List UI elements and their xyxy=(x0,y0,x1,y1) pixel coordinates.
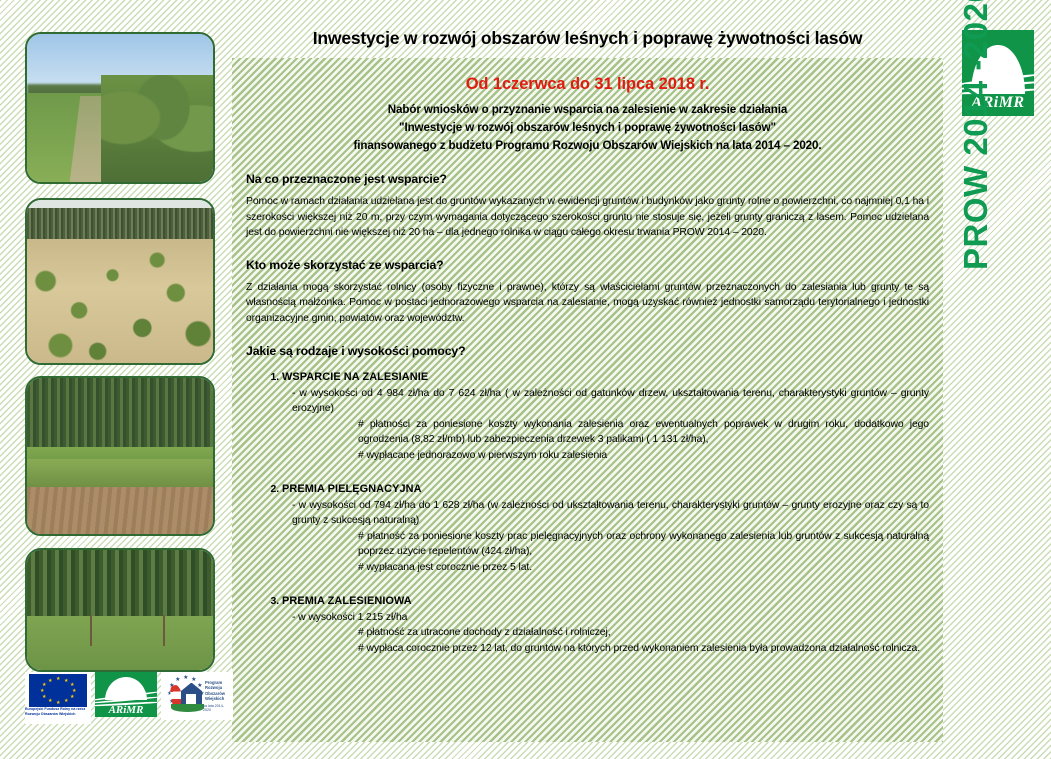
aid-item-title: PREMIA ZALESIENIOWA xyxy=(282,595,929,607)
aid-item-note: # płatność za utracone dochody z działal… xyxy=(282,625,929,641)
list-item-aid-type: PREMIA PIELĘGNACYJNA - w wysokości od 79… xyxy=(282,483,929,576)
aid-item-note: # płatność za poniesione koszty prac pie… xyxy=(282,529,929,560)
photo-fenced-clearing-in-front-of-forest xyxy=(25,548,215,672)
section-paragraph-eligibility: Z działania mogą skorzystać rolnicy (oso… xyxy=(246,280,929,327)
pine-forest-backdrop xyxy=(27,208,213,241)
subtitle-line-2: "Inwestycje w rozwój obszarów leśnych i … xyxy=(246,119,929,137)
prow-logo-years: na lata 2014-2020 xyxy=(203,704,231,712)
grass-clearing xyxy=(27,616,213,670)
footer-logo-strip: ★ ★ ★ ★ ★ ★ ★ ★ ★ ★ ★ ★ Europejski Fundu… xyxy=(25,672,233,732)
poster-page: Inwestycje w rozwój obszarów leśnych i p… xyxy=(0,0,1051,759)
eu-flag-logo: ★ ★ ★ ★ ★ ★ ★ ★ ★ ★ ★ ★ Europejski Fundu… xyxy=(25,672,91,724)
photo-3-content xyxy=(27,378,213,534)
campaign-dates-heading: Od 1czerwca do 31 lipca 2018 r. xyxy=(246,75,929,94)
aid-item-note: # wypłacana jest corocznie przez 5 lat. xyxy=(282,560,929,576)
aid-item-note: # płatności za poniesione koszty wykonan… xyxy=(282,417,929,448)
young-plantation-hedge xyxy=(27,459,213,490)
eu-logo-caption: Europejski Fundusz Rolny na rzecz Rozwoj… xyxy=(25,707,91,716)
section-heading-purpose: Na co przeznaczone jest wsparcie? xyxy=(246,172,929,186)
subtitle-line-1: Nabór wniosków o przyznanie wsparcia na … xyxy=(246,101,929,119)
fence-post xyxy=(163,615,165,646)
fence-post xyxy=(90,615,92,646)
photo-1-content xyxy=(27,34,213,182)
aid-item-rate: - w wysokości od 794 zł/ha do 1 628 zł/h… xyxy=(282,498,929,529)
subtitle-line-3: finansowanego z budżetu Programu Rozwoju… xyxy=(246,137,929,155)
section-heading-aid-types: Jakie są rodzaje i wysokości pomocy? xyxy=(246,344,929,358)
aid-types-list: WSPARCIE NA ZALESIANIE - w wysokości od … xyxy=(246,371,929,657)
prow-program-logo: ★ ★ ★ ★ ★ ★ ★ ★ ★ ★ ★ ★ Program Rozwoju … xyxy=(161,672,233,720)
prow-vertical-label: PROW 2014 -2020 xyxy=(957,0,995,270)
prow-logo-caption: Program Rozwoju Obszarów Wiejskich xyxy=(205,680,231,702)
photo-4-content xyxy=(27,550,213,670)
photo-grass-path-with-young-tree-rows xyxy=(25,32,215,184)
aid-item-rate: - w wysokości 1 215 zł/ha xyxy=(282,610,929,626)
broadleaf-forest-backdrop xyxy=(27,550,213,620)
list-item-aid-type: PREMIA ZALESIENIOWA - w wysokości 1 215 … xyxy=(282,595,929,657)
photo-ploughed-field-with-hedge-and-pine-forest xyxy=(25,376,215,536)
content-panel: Od 1czerwca do 31 lipca 2018 r. Nabór wn… xyxy=(232,58,943,742)
aid-item-note: # wypłacane jednorazowo w pierwszym roku… xyxy=(282,448,929,464)
aid-item-title: PREMIA PIELĘGNACYJNA xyxy=(282,483,929,495)
young-tree-row xyxy=(101,75,213,182)
arimr-small-logo-text: ARiMR xyxy=(95,704,158,716)
pine-seedlings xyxy=(27,246,213,363)
aid-item-rate: - w wysokości od 4 984 zł/ha do 7 624 zł… xyxy=(282,386,929,417)
section-heading-eligibility: Kto może skorzystać ze wsparcia? xyxy=(246,258,929,272)
photo-2-content xyxy=(27,200,213,363)
eu-stars-icon: ★ ★ ★ ★ ★ ★ ★ ★ ★ ★ ★ ★ xyxy=(29,674,87,707)
aid-item-title: WSPARCIE NA ZALESIANIE xyxy=(282,371,929,383)
arimr-logo-small: ARiMR xyxy=(95,672,158,717)
section-paragraph-purpose: Pomoc w ramach działania udzielana jest … xyxy=(246,194,929,241)
list-item-aid-type: WSPARCIE NA ZALESIANIE - w wysokości od … xyxy=(282,371,929,464)
ploughed-soil xyxy=(27,487,213,534)
page-title: Inwestycje w rozwój obszarów leśnych i p… xyxy=(232,28,943,49)
pine-forest-backdrop xyxy=(27,378,213,451)
aid-item-note: # wypłaca corocznie przez 12 lat, do gru… xyxy=(282,641,929,657)
photo-pine-seedlings-on-sandy-soil xyxy=(25,198,215,365)
